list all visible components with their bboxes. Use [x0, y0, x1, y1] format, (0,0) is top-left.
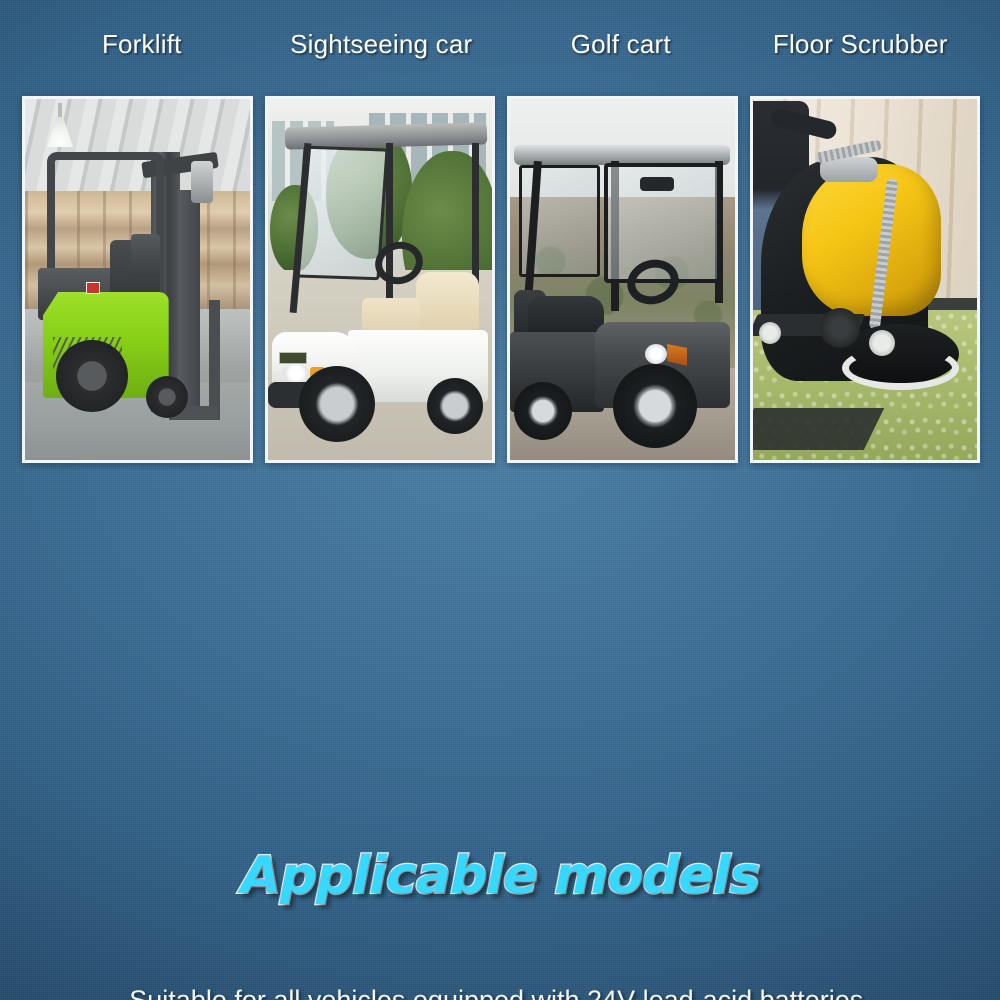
sightseeing-car-photo	[265, 96, 496, 463]
golf-cart-photo	[507, 96, 738, 463]
photo-label-forklift: Forklift	[22, 26, 262, 62]
forklift-illustration	[25, 99, 250, 460]
photo-label-text: Forklift	[102, 29, 182, 60]
section-headline: Applicable models	[0, 846, 1000, 906]
photo-label-text: Sightseeing car	[290, 29, 472, 60]
subheadline-text: Suitable for all vehicles equipped with …	[129, 985, 870, 1000]
forklift-photo	[22, 96, 253, 463]
floor-scrubber-illustration	[753, 99, 978, 460]
golf-cart-illustration	[510, 99, 735, 460]
photo-label-golf-cart: Golf cart	[501, 26, 741, 62]
infographic-page: Forklift Sightseeing car Golf cart Floor…	[0, 0, 1000, 1000]
section-subheadline: Suitable for all vehicles equipped with …	[0, 985, 1000, 1000]
headline-text: Applicable models	[241, 846, 760, 906]
photo-label-text: Floor Scrubber	[773, 29, 948, 60]
photo-label-text: Golf cart	[571, 29, 671, 60]
photo-label-row: Forklift Sightseeing car Golf cart Floor…	[22, 26, 980, 62]
floor-scrubber-photo	[750, 96, 981, 463]
photo-strip	[22, 96, 980, 463]
sightseeing-car-illustration	[268, 99, 493, 460]
photo-label-sightseeing-car: Sightseeing car	[262, 26, 502, 62]
photo-label-floor-scrubber: Floor Scrubber	[741, 26, 981, 62]
